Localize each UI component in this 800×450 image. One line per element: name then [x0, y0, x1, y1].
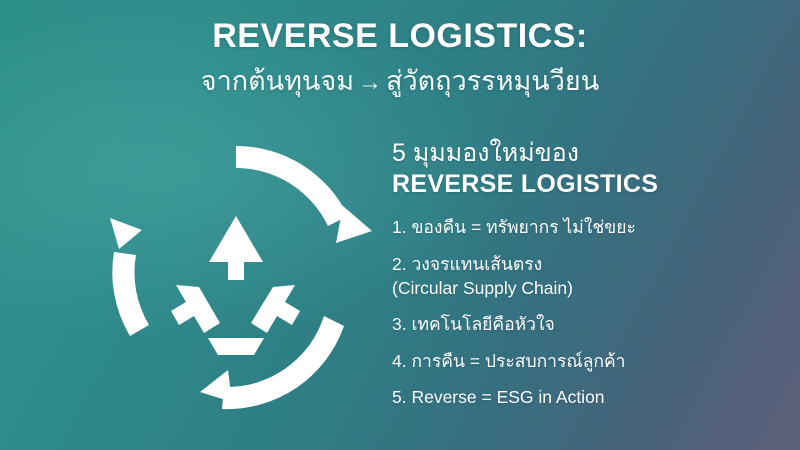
slide-canvas: REVERSE LOGISTICS: จากต้นทุนจม→สู่วัตถุว… — [0, 0, 800, 450]
list-item: 1. ของคืน = ทรัพยากร ไม่ใช่ขยะ — [392, 216, 792, 240]
list-item: 5. Reverse = ESG in Action — [392, 386, 792, 410]
right-arrow-icon: → — [354, 69, 386, 96]
key-points-block: 5 มุมมองใหม่ของ REVERSE LOGISTICS 1. ของ… — [392, 138, 792, 410]
page-title: REVERSE LOGISTICS: — [0, 18, 800, 55]
list-heading-line-2: REVERSE LOGISTICS — [392, 169, 792, 200]
list-item: 2. วงจรแทนเส้นตรง (Circular Supply Chain… — [392, 253, 792, 300]
list-item: 4. การคืน = ประสบการณ์ลูกค้า — [392, 350, 792, 374]
page-subtitle: จากต้นทุนจม→สู่วัตถุวรรหมุนวียน — [0, 65, 800, 99]
title-block: REVERSE LOGISTICS: จากต้นทุนจม→สู่วัตถุว… — [0, 18, 800, 99]
list-heading-line-1: 5 มุมมองใหม่ของ — [392, 138, 792, 168]
subtitle-right-text: สู่วัตถุวรรหมุนวียน — [386, 66, 599, 96]
key-points-list: 1. ของคืน = ทรัพยากร ไม่ใช่ขยะ 2. วงจรแท… — [392, 216, 792, 410]
subtitle-left-text: จากต้นทุนจม — [201, 66, 354, 96]
recycle-graphic — [96, 130, 376, 410]
recycle-symbol-icon — [96, 130, 376, 410]
list-item: 3. เทคโนโลยีคือหัวใจ — [392, 313, 792, 337]
